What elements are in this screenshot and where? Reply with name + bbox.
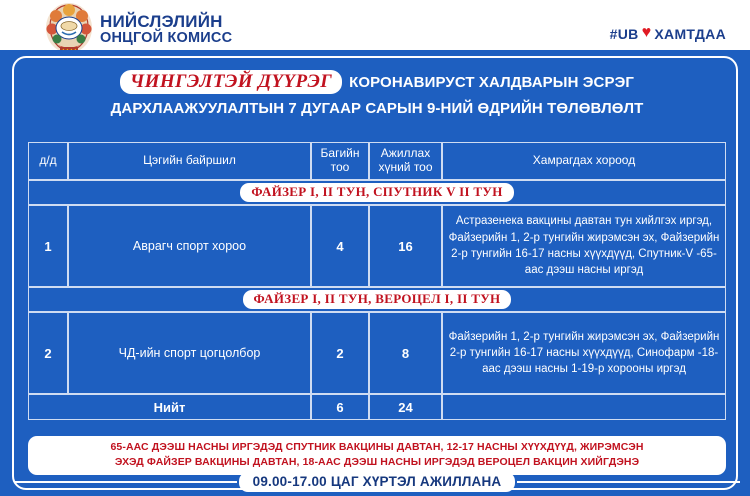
page-title: ЧИНГЭЛТЭЙ ДҮҮРЭГКОРОНАВИРУСТ ХАЛДВАРЫН Э… — [14, 70, 740, 118]
cell-index: 2 — [28, 312, 68, 394]
table-total-row: Нийт 6 24 — [28, 394, 726, 420]
cell-index: 1 — [28, 205, 68, 287]
title-line-1-rest: КОРОНАВИРУСТ ХАЛДВАРЫН ЭСРЭГ — [349, 75, 634, 90]
table-row: 1 Аврагч спорт хороо 4 16 Астразенека ва… — [28, 205, 726, 287]
heart-icon: ♥ — [642, 25, 652, 41]
working-hours-row: 09.00-17.00 ЦАГ ХҮРТЭЛ АЖИЛЛАНА — [14, 472, 740, 492]
total-label: Нийт — [28, 394, 311, 420]
section-banner-row: ФАЙЗЕР I, II ТУН, СПУТНИК V II ТУН — [28, 180, 726, 205]
footer-note: 65-ААС ДЭЭШ НАСНЫ ИРГЭДЭД СПУТНИК ВАКЦИН… — [28, 436, 726, 475]
hours-rule-right — [517, 481, 740, 483]
footer-note-line-2: ЭХЭД ФАЙЗЕР ВАКЦИНЫ ДАВТАН, 18-ААС ДЭЭШ … — [36, 455, 718, 470]
title-line-1: ЧИНГЭЛТЭЙ ДҮҮРЭГКОРОНАВИРУСТ ХАЛДВАРЫН Э… — [14, 70, 740, 94]
hashtag-suffix: ХАМТДАА — [654, 26, 726, 42]
working-hours-badge: 09.00-17.00 ЦАГ ХҮРТЭЛ АЖИЛЛАНА — [239, 472, 516, 492]
section-banner-label: ФАЙЗЕР I, II ТУН, СПУТНИК V II ТУН — [240, 183, 513, 202]
schedule-table: д/д Цэгийн байршил Багийн тоо Ажиллах хү… — [28, 142, 726, 420]
section-banner-label: ФАЙЗЕР I, II ТУН, ВЕРОЦЕЛ I, II ТУН — [243, 290, 512, 309]
cell-staff-count: 8 — [369, 312, 442, 394]
column-header-index: д/д — [28, 142, 68, 180]
column-header-staff-count: Ажиллах хүний тоо — [369, 142, 442, 180]
organization-name: НИЙСЛЭЛИЙН ОНЦГОЙ КОМИСС — [100, 11, 232, 46]
section-banner-cell: ФАЙЗЕР I, II ТУН, СПУТНИК V II ТУН — [28, 180, 726, 205]
section-banner-row: ФАЙЗЕР I, II ТУН, ВЕРОЦЕЛ I, II ТУН — [28, 287, 726, 312]
cell-location: Аврагч спорт хороо — [68, 205, 311, 287]
table-header-row: д/д Цэгийн байршил Багийн тоо Ажиллах хү… — [28, 142, 726, 180]
table-row: 2 ЧД-ийн спорт цогцолбор 2 8 Файзерийн 1… — [28, 312, 726, 394]
district-badge: ЧИНГЭЛТЭЙ ДҮҮРЭГ — [120, 70, 342, 94]
cell-team-count: 4 — [311, 205, 369, 287]
total-khoroo-empty — [442, 394, 726, 420]
footer-note-line-1: 65-ААС ДЭЭШ НАСНЫ ИРГЭДЭД СПУТНИК ВАКЦИН… — [36, 440, 718, 455]
hashtag-prefix: #UB — [610, 26, 639, 42]
column-header-covered-khoroos: Хамрагдах хороод — [442, 142, 726, 180]
column-header-team-count: Багийн тоо — [311, 142, 369, 180]
schedule-table-wrapper: д/д Цэгийн байршил Багийн тоо Ажиллах хү… — [28, 142, 726, 420]
cell-covered-khoroos: Файзерийн 1, 2-р тунгийн жирэмсэн эх, Фа… — [442, 312, 726, 394]
org-line-2: ОНЦГОЙ КОМИСС — [100, 31, 232, 46]
section-banner-cell: ФАЙЗЕР I, II ТУН, ВЕРОЦЕЛ I, II ТУН — [28, 287, 726, 312]
column-header-location: Цэгийн байршил — [68, 142, 311, 180]
organization-logo-block: НИЙСЛЭЛИЙН ОНЦГОЙ КОМИСС — [44, 2, 232, 54]
total-team-count: 6 — [311, 394, 369, 420]
poster-panel: ЧИНГЭЛТЭЙ ДҮҮРЭГКОРОНАВИРУСТ ХАЛДВАРЫН Э… — [12, 56, 738, 490]
total-staff-count: 24 — [369, 394, 442, 420]
cell-covered-khoroos: Астразенека вакцины давтан тун хийлгэх и… — [442, 205, 726, 287]
cell-location: ЧД-ийн спорт цогцолбор — [68, 312, 311, 394]
cell-staff-count: 16 — [369, 205, 442, 287]
state-emblem-icon — [44, 2, 94, 54]
page-header: НИЙСЛЭЛИЙН ОНЦГОЙ КОМИСС #UB ♥ ХАМТДАА — [0, 0, 750, 57]
cell-team-count: 2 — [311, 312, 369, 394]
hashtag-badge: #UB ♥ ХАМТДАА — [598, 24, 738, 45]
hours-rule-left — [14, 481, 237, 483]
org-line-1: НИЙСЛЭЛИЙН — [100, 13, 232, 30]
poster-stage: ЧИНГЭЛТЭЙ ДҮҮРЭГКОРОНАВИРУСТ ХАЛДВАРЫН Э… — [0, 50, 750, 496]
title-line-2: ДАРХЛААЖУУЛАЛТЫН 7 ДУГААР САРЫН 9-НИЙ ӨД… — [14, 101, 740, 116]
